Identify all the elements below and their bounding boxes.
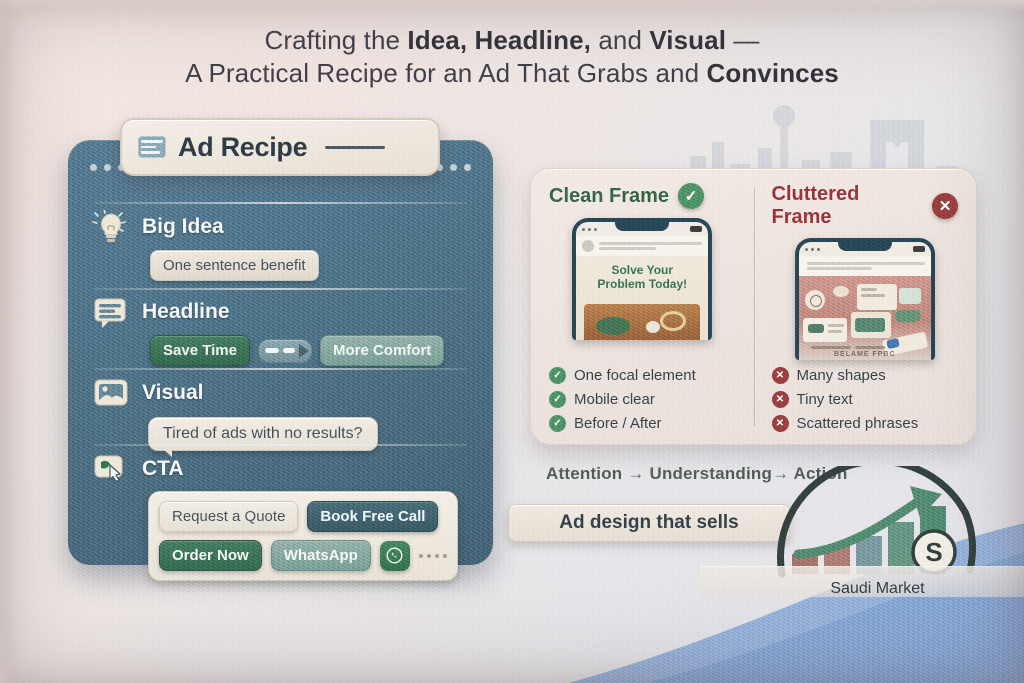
clean-item-3: Before / After (574, 415, 662, 432)
cluttered-item-1: Many shapes (797, 367, 886, 384)
list-item: ✓ Mobile clear (549, 391, 736, 408)
chip-more-comfort[interactable]: More Comfort (320, 335, 444, 366)
title-line2-bold-convinces: Convinces (706, 58, 838, 88)
title-line1-bold-visual: Visual (649, 25, 726, 55)
tagline-text: Ad design that sells (559, 512, 738, 534)
clean-item-1: One focal element (574, 367, 696, 384)
divider-3 (94, 368, 467, 370)
clean-ad-area: Solve Your Problem Today! (576, 256, 708, 340)
phone-notch (838, 242, 892, 251)
check-icon: ✓ (549, 415, 566, 432)
card-dots-right (436, 164, 471, 171)
check-icon: ✓ (549, 367, 566, 384)
cluttered-frame-list: ✕ Many shapes ✕ Tiny text ✕ Scattered ph… (754, 360, 977, 432)
row-label-cta: CTA (142, 457, 184, 481)
row-visual: Visual Tired of ads with no results? (92, 376, 475, 451)
chip-book-free-call[interactable]: Book Free Call (307, 501, 438, 532)
logo-symbol: S (925, 537, 942, 567)
logo-label: Saudi Market (770, 580, 985, 598)
cluttered-frame-title: Cluttered Frame (772, 183, 924, 229)
cta-panel: Request a Quote Book Free Call Order Now… (148, 491, 458, 581)
ad-recipe-title: Ad Recipe (178, 132, 307, 163)
clean-item-2: Mobile clear (574, 391, 655, 408)
title-line1-part2: and (591, 25, 649, 55)
clean-frame-column: Clean Frame ✓ Solve Your Problem Today! (531, 183, 754, 340)
list-item: ✓ One focal element (549, 367, 736, 384)
flow-step-attention: Attention (546, 464, 622, 483)
list-item: ✕ Scattered phrases (772, 415, 959, 432)
divider-4 (94, 444, 467, 446)
clutter-noise (799, 276, 931, 360)
clean-frame-title: Clean Frame (549, 185, 669, 208)
check-badge-icon: ✓ (678, 183, 704, 209)
avatar (582, 240, 594, 252)
ad-recipe-header[interactable]: Ad Recipe (120, 118, 440, 176)
title-line1-part1: Crafting the (264, 25, 407, 55)
chip-save-time[interactable]: Save Time (150, 335, 250, 366)
clean-phone-mockup: Solve Your Problem Today! (572, 218, 712, 340)
list-item: ✓ Before / After (549, 415, 736, 432)
more-options-dots[interactable] (419, 554, 447, 558)
chip-one-sentence-benefit[interactable]: One sentence benefit (150, 250, 319, 281)
row-label-big-idea: Big Idea (142, 215, 224, 239)
cluttered-item-2: Tiny text (797, 391, 853, 408)
row-big-idea: Big Idea One sentence benefit (92, 210, 475, 281)
cluttered-ad-area: BELAME FPBC (799, 276, 931, 360)
cross-icon: ✕ (772, 367, 789, 384)
flow-arrow-1: → (627, 464, 644, 483)
title-line1-bold-idea: Idea, (407, 25, 467, 55)
title-line2-part1: A Practical Recipe for an Ad That Grabs … (185, 58, 706, 88)
check-icon: ✓ (549, 391, 566, 408)
cluttered-tiny-text: BELAME FPBC (799, 351, 931, 358)
phone-post-header (576, 236, 708, 256)
divider-1 (94, 202, 467, 204)
cross-icon: ✕ (772, 415, 789, 432)
header-dash (325, 146, 385, 149)
chip-request-a-quote[interactable]: Request a Quote (159, 501, 298, 532)
cursor-click-icon (92, 452, 130, 486)
frame-comparison-card: Clean Frame ✓ Solve Your Problem Today! (530, 168, 977, 445)
document-lines-icon (138, 136, 166, 158)
slider-arrow-icon (258, 339, 312, 363)
cluttered-phone-mockup: BELAME FPBC (795, 238, 935, 360)
page-title: Crafting the Idea, Headline, and Visual … (0, 24, 1024, 90)
infographic-canvas: Crafting the Idea, Headline, and Visual … (0, 0, 1024, 683)
title-line1-bold-headline: Headline, (475, 25, 592, 55)
food-photo (584, 304, 700, 340)
flow-step-understanding: Understanding (649, 464, 772, 483)
title-space-1 (467, 25, 474, 55)
speech-lines-icon (92, 295, 130, 329)
clean-frame-list: ✓ One focal element ✓ Mobile clear ✓ Bef… (531, 360, 754, 432)
divider-2 (94, 288, 467, 290)
tagline-banner: Ad design that sells (508, 504, 790, 542)
row-label-headline: Headline (142, 300, 230, 324)
ad-recipe-card: Ad Recipe (68, 140, 493, 565)
chip-order-now[interactable]: Order Now (159, 540, 262, 571)
clean-ad-line1: Solve Your (576, 263, 708, 277)
cluttered-item-3: Scattered phrases (797, 415, 919, 432)
row-cta: CTA Request a Quote Book Free Call Order… (92, 452, 475, 581)
growth-chart-logo: S (770, 466, 985, 581)
whatsapp-icon[interactable] (380, 541, 410, 571)
phone-post-header (799, 256, 931, 276)
chip-whatsapp[interactable]: WhatsApp (271, 540, 371, 571)
list-item: ✕ Tiny text (772, 391, 959, 408)
list-item: ✕ Many shapes (772, 367, 959, 384)
cluttered-frame-column: Cluttered Frame ✕ (754, 183, 977, 360)
title-line1-dash: — (726, 25, 759, 55)
cross-badge-icon: ✕ (932, 193, 958, 219)
image-icon (92, 376, 130, 410)
row-headline: Headline Save Time More Comfort (92, 295, 475, 366)
row-label-visual: Visual (142, 381, 203, 405)
clean-ad-line2: Problem Today! (576, 277, 708, 291)
cross-icon: ✕ (772, 391, 789, 408)
phone-notch (615, 222, 669, 231)
lightbulb-icon (92, 210, 130, 244)
